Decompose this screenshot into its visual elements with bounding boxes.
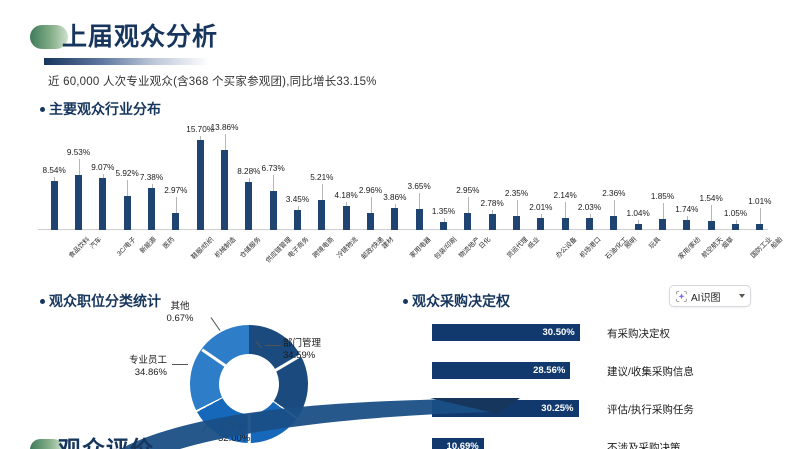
bar-value-label: 2.35%: [505, 189, 528, 198]
bar-leader-line: [663, 203, 664, 219]
bar-leader-line: [273, 175, 274, 191]
bar-leader-line: [541, 214, 542, 218]
x-axis-label: 国防工业: [747, 234, 773, 260]
bar-value-label: 2.01%: [529, 203, 552, 212]
bar-leader-line: [176, 197, 177, 213]
bar-rect: [270, 191, 277, 230]
x-axis-label: 鞋服/纺织: [188, 234, 215, 261]
bar-rect: [197, 140, 204, 230]
section-title-decision-label: 观众采购决定权: [412, 291, 510, 311]
bar-leader-line: [371, 197, 372, 213]
bar-leader-line: [638, 220, 639, 224]
industry-bar: [221, 150, 228, 230]
bar-value-label: 6.73%: [262, 164, 285, 173]
industry-bar: [708, 221, 715, 230]
bar-value-label: 9.53%: [67, 148, 90, 157]
donut-label-staff: 专业员工 34.86%: [92, 355, 167, 379]
bar-rect: [708, 221, 715, 230]
x-axis-label: 玩具: [646, 234, 662, 250]
bar-leader-line: [517, 200, 518, 216]
next-section-header-peek: 观众评价: [30, 432, 154, 449]
industry-bar: [513, 216, 520, 230]
bar-rect: [391, 208, 398, 230]
decision-row: 30.25%评估/执行采购任务: [432, 400, 772, 431]
industry-bar: [270, 191, 277, 230]
ai-recognize-button[interactable]: AI识图: [669, 285, 751, 307]
industry-bar: [148, 188, 155, 230]
bar-value-label: 5.92%: [116, 169, 139, 178]
bar-leader-line: [249, 178, 250, 182]
decision-bar-value: 30.25%: [541, 403, 573, 414]
industry-bar: [294, 210, 301, 230]
bar-leader-line: [103, 174, 104, 178]
industry-bar: [99, 178, 106, 230]
bar-leader-line: [590, 214, 591, 218]
decision-category-label: 评估/执行采购任务: [607, 402, 694, 417]
x-axis-label: 跨境电商: [309, 234, 335, 260]
bar-value-label: 2.36%: [602, 189, 625, 198]
decision-bar: 28.56%: [432, 362, 570, 379]
x-axis-label: 家用电器: [407, 234, 433, 260]
decision-bar: 10.69%: [432, 438, 484, 449]
bar-rect: [343, 206, 350, 230]
bar-leader-line: [127, 180, 128, 196]
industry-bar: [537, 218, 544, 230]
industry-bar: [343, 206, 350, 230]
decision-bar-value: 30.50%: [543, 327, 575, 338]
bullet-dot-icon: [40, 299, 45, 304]
bar-rect: [318, 200, 325, 230]
x-axis-label: 石油/化工: [602, 234, 629, 261]
x-axis-label: 3C/电子: [114, 234, 138, 258]
industry-bar: [391, 208, 398, 230]
bar-leader-line: [322, 184, 323, 200]
donut-label-dept: 部门管理 34.59%: [283, 338, 321, 362]
bar-leader-line: [395, 204, 396, 208]
bar-rect: [683, 220, 690, 230]
chevron-down-icon: [739, 294, 745, 298]
bar-rect: [610, 216, 617, 230]
bar-leader-line: [79, 159, 80, 175]
bar-value-label: 2.78%: [481, 199, 504, 208]
slide-canvas: 上届观众分析 近 60,000 人次专业观众(含368 个买家参观团),同比增长…: [0, 0, 787, 449]
bar-rect: [732, 224, 739, 230]
bar-rect: [51, 181, 58, 230]
bar-value-label: 3.65%: [408, 182, 431, 191]
ai-recognize-label: AI识图: [691, 289, 720, 304]
bar-value-label: 1.01%: [748, 197, 771, 206]
ai-sparkle-icon: [675, 290, 688, 303]
x-axis-label: 新能源: [137, 234, 158, 255]
decision-category-label: 不涉及采购决策: [607, 440, 681, 449]
page-title: 上届观众分析: [62, 25, 218, 50]
bar-value-label: 3.86%: [383, 193, 406, 202]
x-axis-label: 纸业: [524, 234, 540, 250]
x-axis-label: 日化: [476, 234, 492, 250]
bullet-dot-icon: [40, 107, 45, 112]
bar-leader-line: [298, 206, 299, 210]
x-axis-label: 医药: [159, 234, 175, 250]
x-axis-label: 航空航天: [699, 234, 725, 260]
donut-label-decision-maker: 决策者 32.00%: [218, 421, 250, 445]
bullet-dot-icon: [403, 299, 408, 304]
industry-bar: [489, 214, 496, 230]
bar-rect: [148, 188, 155, 230]
industry-bar: [683, 220, 690, 230]
x-axis-label: 家用/家纺: [675, 234, 702, 261]
x-axis-label: 机场港口: [577, 234, 603, 260]
x-axis-label: 包装/印刷: [431, 234, 458, 261]
x-axis-label: 仓储服务: [236, 234, 262, 260]
bar-value-label: 1.54%: [700, 194, 723, 203]
x-axis-label: 汽车: [86, 234, 102, 250]
bar-rect: [562, 218, 569, 230]
bar-value-label: 5.21%: [310, 173, 333, 182]
bar-value-label: 1.35%: [432, 207, 455, 216]
industry-bar: [440, 222, 447, 230]
decision-category-label: 建议/收集采购信息: [607, 364, 694, 379]
industry-bar: [172, 213, 179, 230]
bar-leader-line: [736, 220, 737, 224]
bar-value-label: 4.18%: [335, 191, 358, 200]
decision-category-label: 有采购决定权: [607, 326, 670, 341]
decision-bar-value: 10.69%: [447, 441, 479, 449]
section-title-decision: 观众采购决定权: [403, 291, 510, 311]
x-axis-label: 办公设备: [553, 234, 579, 260]
bar-leader-line: [225, 134, 226, 150]
x-axis-label: 机械制造: [212, 234, 238, 260]
industry-bar: [124, 196, 131, 230]
x-axis-label: 邮政/快递: [358, 234, 385, 261]
bar-value-label: 2.97%: [164, 186, 187, 195]
page-header: 上届观众分析: [30, 20, 218, 65]
bar-value-label: 2.14%: [554, 191, 577, 200]
bar-rect: [635, 224, 642, 230]
next-section-title: 观众评价: [58, 438, 154, 449]
bar-rect: [294, 210, 301, 230]
industry-bar: [245, 182, 252, 230]
bar-leader-line: [419, 193, 420, 209]
industry-bar: [659, 219, 666, 230]
bar-rect: [513, 216, 520, 230]
bar-value-label: 1.74%: [675, 205, 698, 214]
bar-leader-line: [711, 205, 712, 221]
bar-leader-line: [54, 177, 55, 181]
bar-rect: [489, 214, 496, 230]
bar-rect: [659, 219, 666, 230]
bar-rect: [756, 224, 763, 230]
donut-label-other: 其他 0.67%: [150, 301, 210, 325]
industry-bar: [51, 181, 58, 230]
bar-rect: [586, 218, 593, 230]
industry-bar: [416, 209, 423, 230]
donut-gap: [202, 349, 252, 384]
x-axis-label: 物流地产: [455, 234, 481, 260]
industry-bar: [318, 200, 325, 230]
bar-value-label: 8.54%: [43, 166, 66, 175]
bar-value-label: 7.38%: [140, 173, 163, 182]
decision-row: 30.50%有采购决定权: [432, 324, 772, 355]
bar-leader-line: [614, 200, 615, 216]
bar-rect: [416, 209, 423, 230]
section-title-job-label: 观众职位分类统计: [49, 291, 161, 311]
donut-leader-line: [172, 364, 188, 365]
bar-value-label: 1.85%: [651, 192, 674, 201]
bar-value-label: 2.96%: [359, 186, 382, 195]
header-subtitle: 近 60,000 人次专业观众(含368 个买家参观团),同比增长33.15%: [48, 73, 377, 89]
industry-bar: [367, 213, 374, 230]
x-axis-label: 船舶: [768, 234, 784, 250]
bar-value-label: 1.05%: [724, 209, 747, 218]
x-axis-label: 食品饮料: [66, 234, 92, 260]
industry-bar: [197, 140, 204, 230]
decision-bar-value: 28.56%: [533, 365, 565, 376]
decision-bar: 30.50%: [432, 324, 580, 341]
bar-leader-line: [687, 216, 688, 220]
bar-rect: [440, 222, 447, 230]
bar-leader-line: [760, 208, 761, 224]
bar-leader-line: [200, 136, 201, 140]
industry-bar: [635, 224, 642, 230]
header-gradient-rule: [44, 58, 209, 65]
bar-rect: [99, 178, 106, 230]
industry-bar: [464, 213, 471, 230]
bar-value-label: 1.04%: [627, 209, 650, 218]
donut-leader-line: [265, 345, 281, 346]
industry-bar: [562, 218, 569, 230]
bar-value-label: 13.86%: [211, 123, 239, 132]
industry-bar: [75, 175, 82, 230]
decision-bar: 30.25%: [432, 400, 579, 417]
bar-leader-line: [468, 197, 469, 213]
bar-rect: [245, 182, 252, 230]
bar-leader-line: [492, 210, 493, 214]
decision-row: 10.69%不涉及采购决策: [432, 438, 772, 449]
bar-leader-line: [444, 218, 445, 222]
section-title-industry-label: 主要观众行业分布: [49, 99, 161, 119]
x-axis-label: 烟草: [719, 234, 735, 250]
bar-leader-line: [152, 184, 153, 188]
bar-leader-line: [346, 202, 347, 206]
bar-value-label: 8.28%: [237, 167, 260, 176]
bar-rect: [75, 175, 82, 230]
bar-rect: [221, 150, 228, 230]
bar-rect: [537, 218, 544, 230]
chart-industry-distribution: 食品饮料汽车3C/电子新能源医药鞋服/纺织机械制造仓储服务供应链管理电子商务跨境…: [38, 118, 768, 283]
bar-value-label: 2.95%: [456, 186, 479, 195]
bar-leader-line: [565, 202, 566, 218]
bar-rect: [464, 213, 471, 230]
bar-value-label: 2.03%: [578, 203, 601, 212]
bar-rect: [124, 196, 131, 230]
industry-bar: [586, 218, 593, 230]
industry-bar: [610, 216, 617, 230]
x-axis-label: 货运代理: [504, 234, 530, 260]
bar-value-label: 3.45%: [286, 195, 309, 204]
x-axis-label: 冷链物流: [334, 234, 360, 260]
bar-rect: [172, 213, 179, 230]
bar-value-label: 9.07%: [91, 163, 114, 172]
bar-rect: [367, 213, 374, 230]
section-title-industry: 主要观众行业分布: [40, 99, 161, 119]
section-title-job: 观众职位分类统计: [40, 291, 161, 311]
chart-decision-power: 30.50%有采购决定权28.56%建议/收集采购信息30.25%评估/执行采购…: [432, 324, 772, 449]
industry-bar: [756, 224, 763, 230]
decision-row: 28.56%建议/收集采购信息: [432, 362, 772, 393]
industry-bar: [732, 224, 739, 230]
